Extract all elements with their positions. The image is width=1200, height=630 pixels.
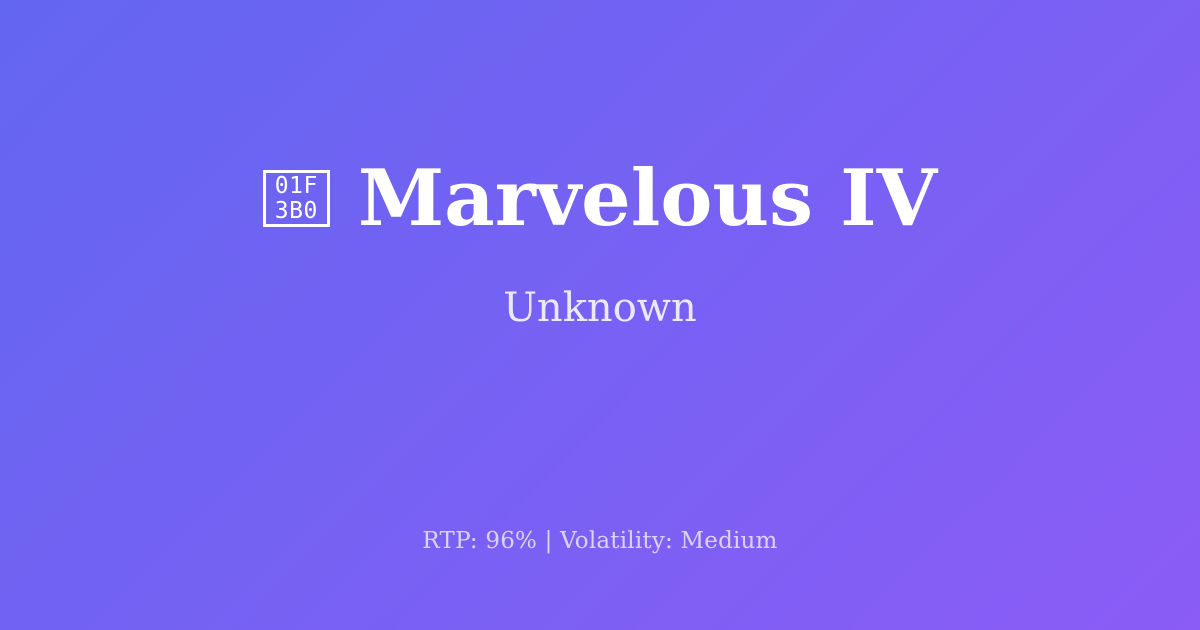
card-subtitle: Unknown bbox=[503, 284, 697, 332]
title-row: 01F 3B0 Marvelous IV bbox=[263, 158, 937, 239]
og-preview-card: 01F 3B0 Marvelous IV Unknown RTP: 96% | … bbox=[0, 0, 1200, 630]
hero-block: 01F 3B0 Marvelous IV Unknown bbox=[0, 0, 1200, 490]
slot-machine-icon: 01F 3B0 bbox=[263, 170, 330, 227]
page-title: Marvelous IV bbox=[358, 158, 937, 239]
card-meta-line: RTP: 96% | Volatility: Medium bbox=[0, 527, 1200, 557]
tofu-codepoint-line-1: 01F bbox=[275, 175, 318, 198]
tofu-codepoint-line-2: 3B0 bbox=[275, 200, 318, 223]
